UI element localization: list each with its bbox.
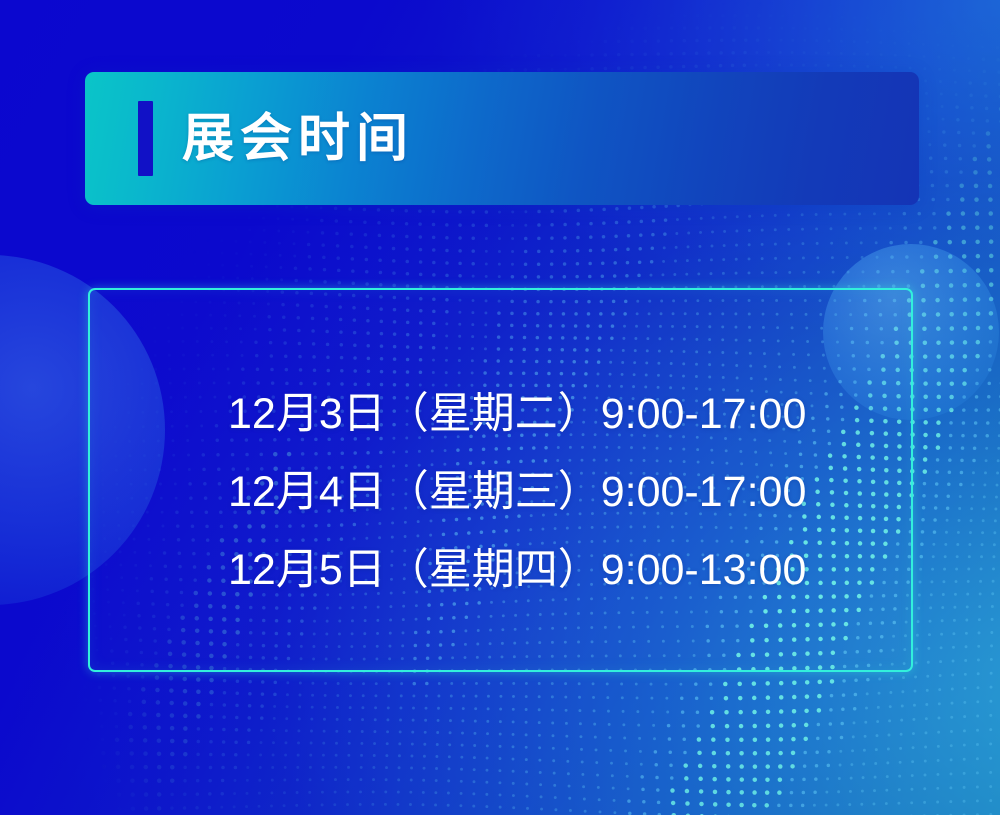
schedule-list: 12月3日（星期二）9:00-17:00 12月4日（星期三）9:00-17:0… [228,375,868,609]
section-header-banner: 展会时间 [85,72,919,205]
schedule-item: 12月5日（星期四）9:00-13:00 [228,531,868,609]
schedule-item: 12月3日（星期二）9:00-17:00 [228,375,868,453]
schedule-item: 12月4日（星期三）9:00-17:00 [228,453,868,531]
page-title: 展会时间 [182,113,414,165]
accent-bar-icon [138,101,153,176]
poster-canvas: 展会时间 12月3日（星期二）9:00-17:00 12月4日（星期三）9:00… [0,0,1000,815]
